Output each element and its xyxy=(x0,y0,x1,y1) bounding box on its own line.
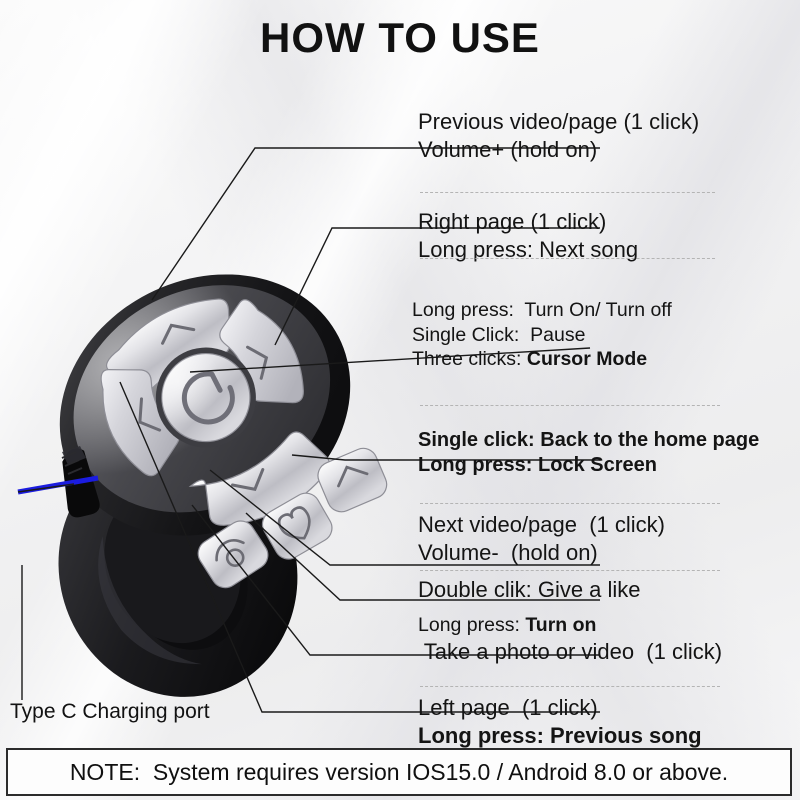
callout-line: Long press: Previous song xyxy=(418,722,702,750)
callout-emphasis: Cursor Mode xyxy=(527,348,647,370)
callout-line: Volume+ (hold on) xyxy=(418,136,699,164)
callout-line: Long press: Turn on xyxy=(418,613,722,638)
note-bar: NOTE: System requires version IOS15.0 / … xyxy=(6,748,792,796)
note-text: NOTE: System requires version IOS15.0 / … xyxy=(70,759,728,786)
poster-root: HOW TO USE xyxy=(0,0,800,800)
callout-previous-video: Previous video/page (1 click) Volume+ (h… xyxy=(418,108,699,163)
charging-port-label: Type C Charging port xyxy=(10,700,210,724)
divider xyxy=(420,258,715,259)
callout-right-page: Right page (1 click) Long press: Next so… xyxy=(418,208,638,263)
callout-line: Three clicks: Cursor Mode xyxy=(412,347,672,372)
callout-line: Left page (1 click) xyxy=(418,694,702,722)
callout-line: Single Click: Pause xyxy=(412,323,672,348)
callout-line: Take a photo or video (1 click) xyxy=(418,638,722,666)
divider xyxy=(420,686,720,687)
callout-line: Long press: Turn On/ Turn off xyxy=(412,298,672,323)
callout-line: Next video/page (1 click) xyxy=(418,511,665,539)
callout-like: Double clik: Give a like xyxy=(418,576,641,604)
callout-left-page: Left page (1 click) Long press: Previous… xyxy=(418,694,702,749)
callout-emphasis: Turn on xyxy=(525,614,596,636)
callout-line: Right page (1 click) xyxy=(418,208,638,236)
callout-line: Long press: Lock Screen xyxy=(418,453,759,478)
callout-camera: Long press: Turn on Take a photo or vide… xyxy=(418,613,722,665)
callout-line: Single click: Back to the home page xyxy=(418,428,759,453)
divider xyxy=(420,503,720,504)
callout-line: Long press: Next song xyxy=(418,236,638,264)
divider xyxy=(420,192,715,193)
callout-line: Volume- (hold on) xyxy=(418,539,665,567)
callout-power: Long press: Turn On/ Turn off Single Cli… xyxy=(412,298,672,372)
divider xyxy=(420,570,720,571)
callout-next-video: Next video/page (1 click) Volume- (hold … xyxy=(418,511,665,566)
callout-line: Double clik: Give a like xyxy=(418,576,641,604)
callout-line: Previous video/page (1 click) xyxy=(418,108,699,136)
callout-home: Single click: Back to the home page Long… xyxy=(418,428,759,478)
divider xyxy=(420,405,720,406)
